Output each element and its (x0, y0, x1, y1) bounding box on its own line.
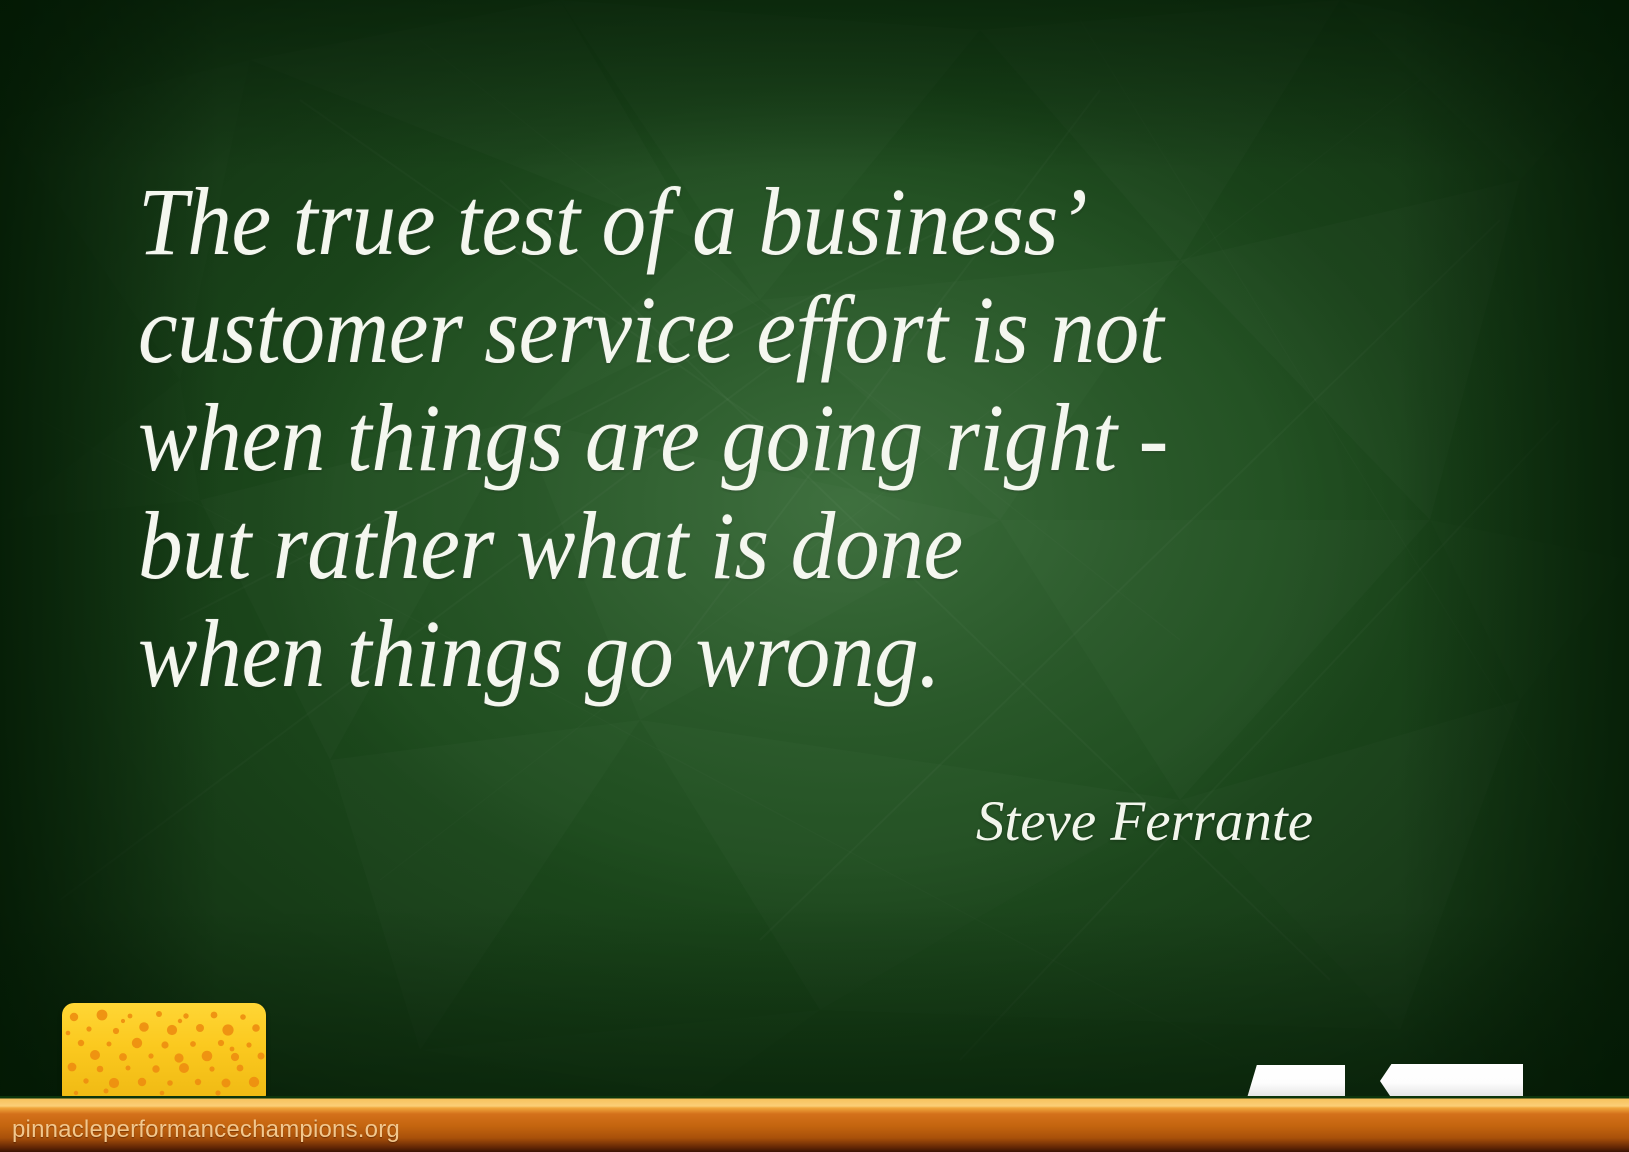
quote-line-5: when things go wrong. (138, 600, 1375, 708)
quote-text-block: The true test of a business’ customer se… (138, 168, 1468, 708)
website-url[interactable]: pinnacleperformancechampions.org (12, 1116, 400, 1144)
quote-line-2: customer service effort is not (138, 276, 1375, 384)
chalk-stick-right-broken[interactable] (1380, 1064, 1523, 1098)
quote-line-3: when things are going right - (138, 384, 1375, 492)
board-edge-top (0, 0, 1629, 170)
sponge-holes-icon (62, 1003, 266, 1098)
quote-line-1: The true test of a business’ (138, 168, 1375, 276)
quote-attribution: Steve Ferrante (976, 790, 1313, 854)
quote-line-4: but rather what is done (138, 492, 1375, 600)
sponge-eraser[interactable] (62, 1003, 266, 1098)
slide-canvas: The true test of a business’ customer se… (0, 0, 1629, 1152)
chalk-stick-left[interactable] (1247, 1065, 1345, 1098)
